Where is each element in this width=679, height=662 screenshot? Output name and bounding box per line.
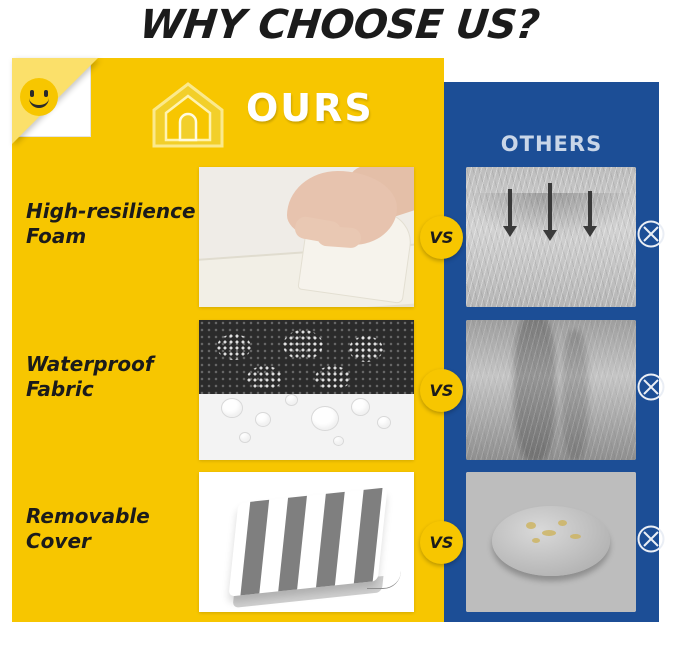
feature-row-cover: Removable Cover VS — [0, 472, 679, 612]
cross-circle-icon — [636, 372, 666, 402]
feature-label-line1: High-resilience — [26, 199, 201, 224]
feature-row-foam: High-resilience Foam VS — [0, 167, 679, 307]
cross-circle-icon — [636, 524, 666, 554]
feature-label-line1: Waterproof — [26, 352, 201, 377]
others-image-cover — [466, 472, 636, 612]
others-label: OTHERS — [444, 132, 659, 156]
vs-badge-foam: VS — [420, 216, 463, 259]
feature-row-fabric: Waterproof Fabric VS — [0, 320, 679, 460]
ours-label: OURS — [246, 86, 374, 130]
feature-label-line1: Removable — [26, 504, 201, 529]
ours-header: OURS — [150, 80, 420, 150]
feature-label-line2: Cover — [26, 529, 201, 554]
feature-label-line2: Foam — [26, 224, 201, 249]
smiley-face-icon — [20, 78, 58, 116]
ours-image-cover — [199, 472, 414, 612]
feature-label-fabric: Waterproof Fabric — [26, 352, 201, 402]
vs-badge-fabric: VS — [420, 369, 463, 412]
cross-circle-icon — [636, 219, 666, 249]
page-title: WHY CHOOSE US? — [0, 2, 679, 48]
feature-label-foam: High-resilience Foam — [26, 199, 201, 249]
ours-image-foam — [199, 167, 414, 307]
ours-image-fabric — [199, 320, 414, 460]
house-badge-icon — [150, 80, 226, 150]
smiley-mouth — [29, 95, 49, 108]
feature-label-cover: Removable Cover — [26, 504, 201, 554]
comparison-poster: WHY CHOOSE US? OTHERS OURS High-resilien… — [0, 0, 679, 662]
others-image-fabric — [466, 320, 636, 460]
vs-badge-cover: VS — [420, 521, 463, 564]
others-image-foam — [466, 167, 636, 307]
feature-label-line2: Fabric — [26, 377, 201, 402]
